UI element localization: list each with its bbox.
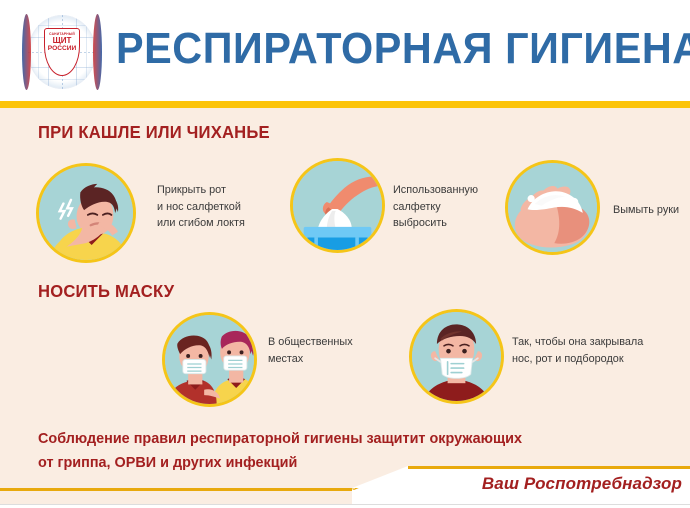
caption-cover-mouth: Прикрыть рот и нос салфеткой или сгибом … — [157, 182, 245, 232]
emblem-line-2: ЩИТ — [53, 36, 72, 45]
caption-cover-nose-mouth-chin: Так, чтобы она закрывала нос, рот и подб… — [512, 334, 643, 367]
person-coughing-into-elbow-icon — [36, 163, 136, 263]
section-heading-cough: ПРИ КАШЛЕ ИЛИ ЧИХАНЬЕ — [38, 122, 270, 143]
hand-dropping-tissue-in-bin-icon — [290, 158, 385, 253]
caption-wash-hands: Вымыть руки — [613, 202, 679, 219]
footer-rule-left — [0, 488, 360, 491]
emblem-ribbon-left — [22, 14, 31, 90]
caption-throw-away-tissue: Использованную салфетку выбросить — [393, 182, 478, 232]
section-heading-mask: НОСИТЬ МАСКУ — [38, 281, 174, 302]
emblem-ribbon-right — [93, 14, 102, 90]
page-title: РЕСПИРАТОРНАЯ ГИГИЕНА — [116, 24, 690, 74]
emblem-line-3: РОССИИ — [48, 45, 76, 53]
poster-header: САНИТАРНЫЙ ЩИТ РОССИИ РЕСПИРАТОРНАЯ ГИГИ… — [0, 0, 690, 101]
respiratory-hygiene-poster: САНИТАРНЫЙ ЩИТ РОССИИ РЕСПИРАТОРНАЯ ГИГИ… — [0, 0, 690, 508]
two-people-wearing-masks-icon — [162, 312, 257, 407]
footer-signature: Ваш Роспотребнадзор — [482, 474, 682, 494]
person-wearing-mask-front-icon — [409, 309, 504, 404]
caption-public-places: В общественных местах — [268, 334, 353, 367]
header-divider — [0, 101, 690, 108]
washing-hands-with-soap-icon — [505, 160, 600, 255]
bottom-edge — [0, 504, 690, 508]
sanitary-shield-of-russia-emblem: САНИТАРНЫЙ ЩИТ РОССИИ — [20, 12, 104, 92]
footer-rule-top — [408, 466, 690, 469]
